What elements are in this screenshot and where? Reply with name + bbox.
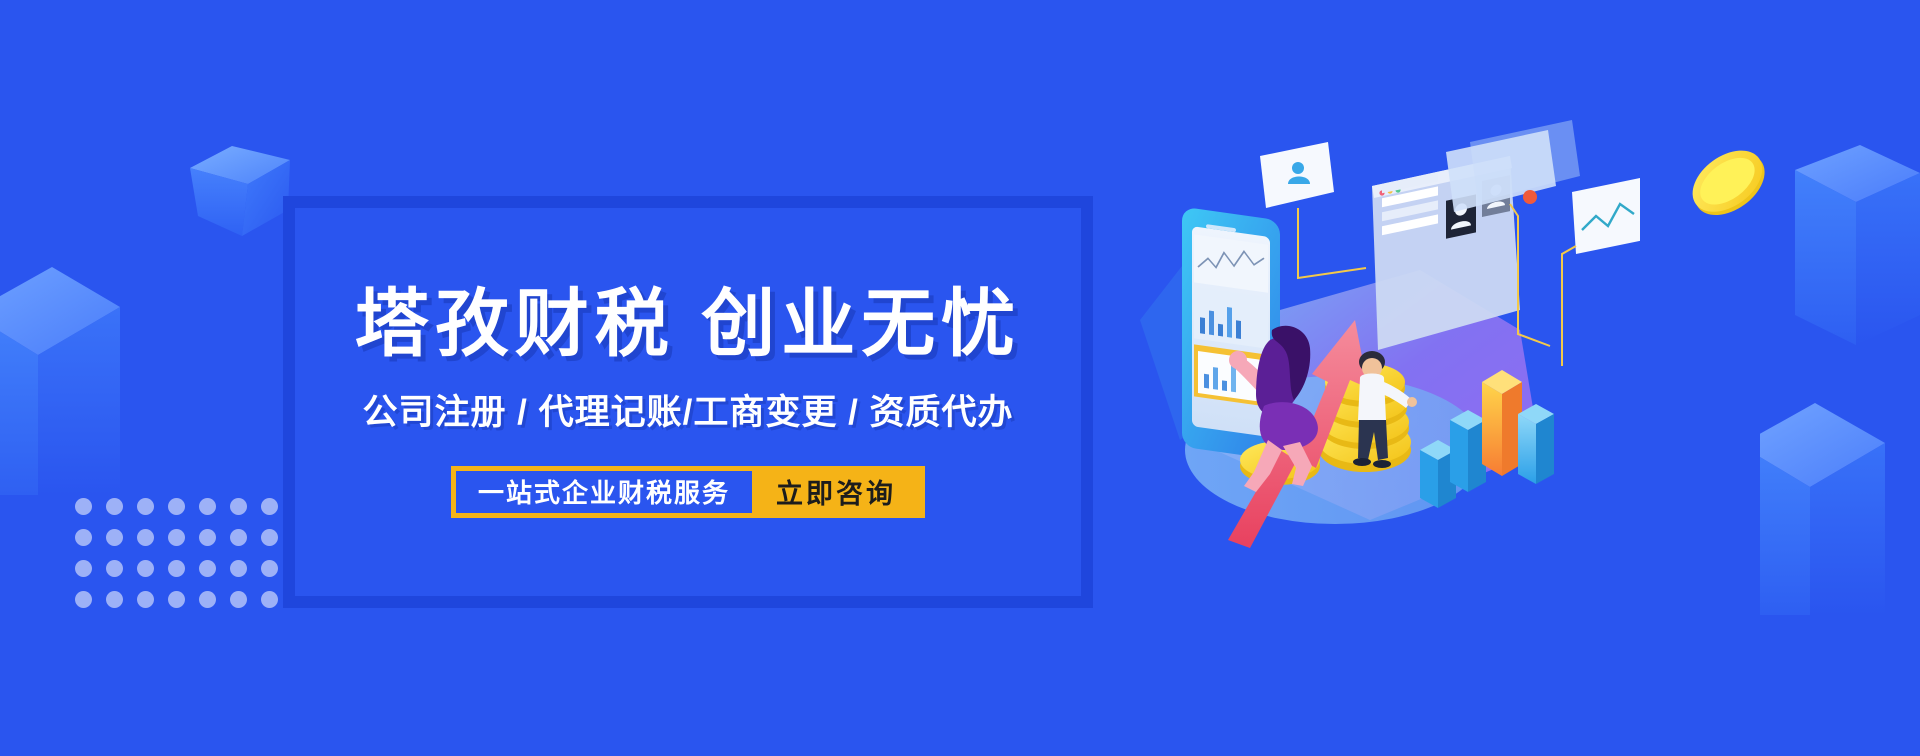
profile-card (1260, 142, 1334, 208)
isometric-box-right-upper-icon (1790, 145, 1920, 405)
dot (168, 591, 185, 608)
promo-banner: 塔孜财税 创业无忧 公司注册 / 代理记账/工商变更 / 资质代办 一站式企业财… (0, 0, 1920, 756)
dot (199, 560, 216, 577)
headline-frame: 塔孜财税 创业无忧 公司注册 / 代理记账/工商变更 / 资质代办 一站式企业财… (283, 196, 1093, 608)
dot (230, 498, 247, 515)
page-title: 塔孜财税 创业无忧 (355, 287, 1022, 361)
dot (230, 591, 247, 608)
line-chart-card (1572, 178, 1640, 254)
services-subtitle: 公司注册 / 代理记账/工商变更 / 资质代办 (362, 395, 1013, 430)
dot (261, 498, 278, 515)
isometric-box-right-lower-icon (1760, 395, 1920, 615)
isometric-box-left-icon (0, 225, 120, 495)
cta-button-group[interactable]: 一站式企业财税服务 立即咨询 (451, 466, 925, 518)
consult-now-button[interactable]: 立即咨询 (752, 471, 920, 513)
credit-card (1446, 120, 1580, 212)
dot (137, 591, 154, 608)
dot (168, 560, 185, 577)
cta-tag-label: 一站式企业财税服务 (456, 471, 752, 513)
dot (168, 498, 185, 515)
dot (199, 591, 216, 608)
headline-frame-inner: 塔孜财税 创业无忧 公司注册 / 代理记账/工商变更 / 资质代办 一站式企业财… (295, 208, 1081, 596)
dot (75, 498, 92, 515)
dot (261, 529, 278, 546)
dot (199, 529, 216, 546)
dot (106, 591, 123, 608)
dot (75, 591, 92, 608)
dot (106, 498, 123, 515)
dot (261, 591, 278, 608)
dot (75, 529, 92, 546)
dot (106, 529, 123, 546)
dot (168, 529, 185, 546)
gold-coin-right-icon (1685, 142, 1771, 222)
dot (261, 560, 278, 577)
dot (137, 560, 154, 577)
dot (199, 498, 216, 515)
dot (230, 560, 247, 577)
dot (137, 498, 154, 515)
dot (75, 560, 92, 577)
dot (106, 560, 123, 577)
dot (230, 529, 247, 546)
dot (137, 529, 154, 546)
isometric-fintech-illustration (1120, 120, 1640, 550)
dot-grid-decoration (75, 498, 245, 578)
